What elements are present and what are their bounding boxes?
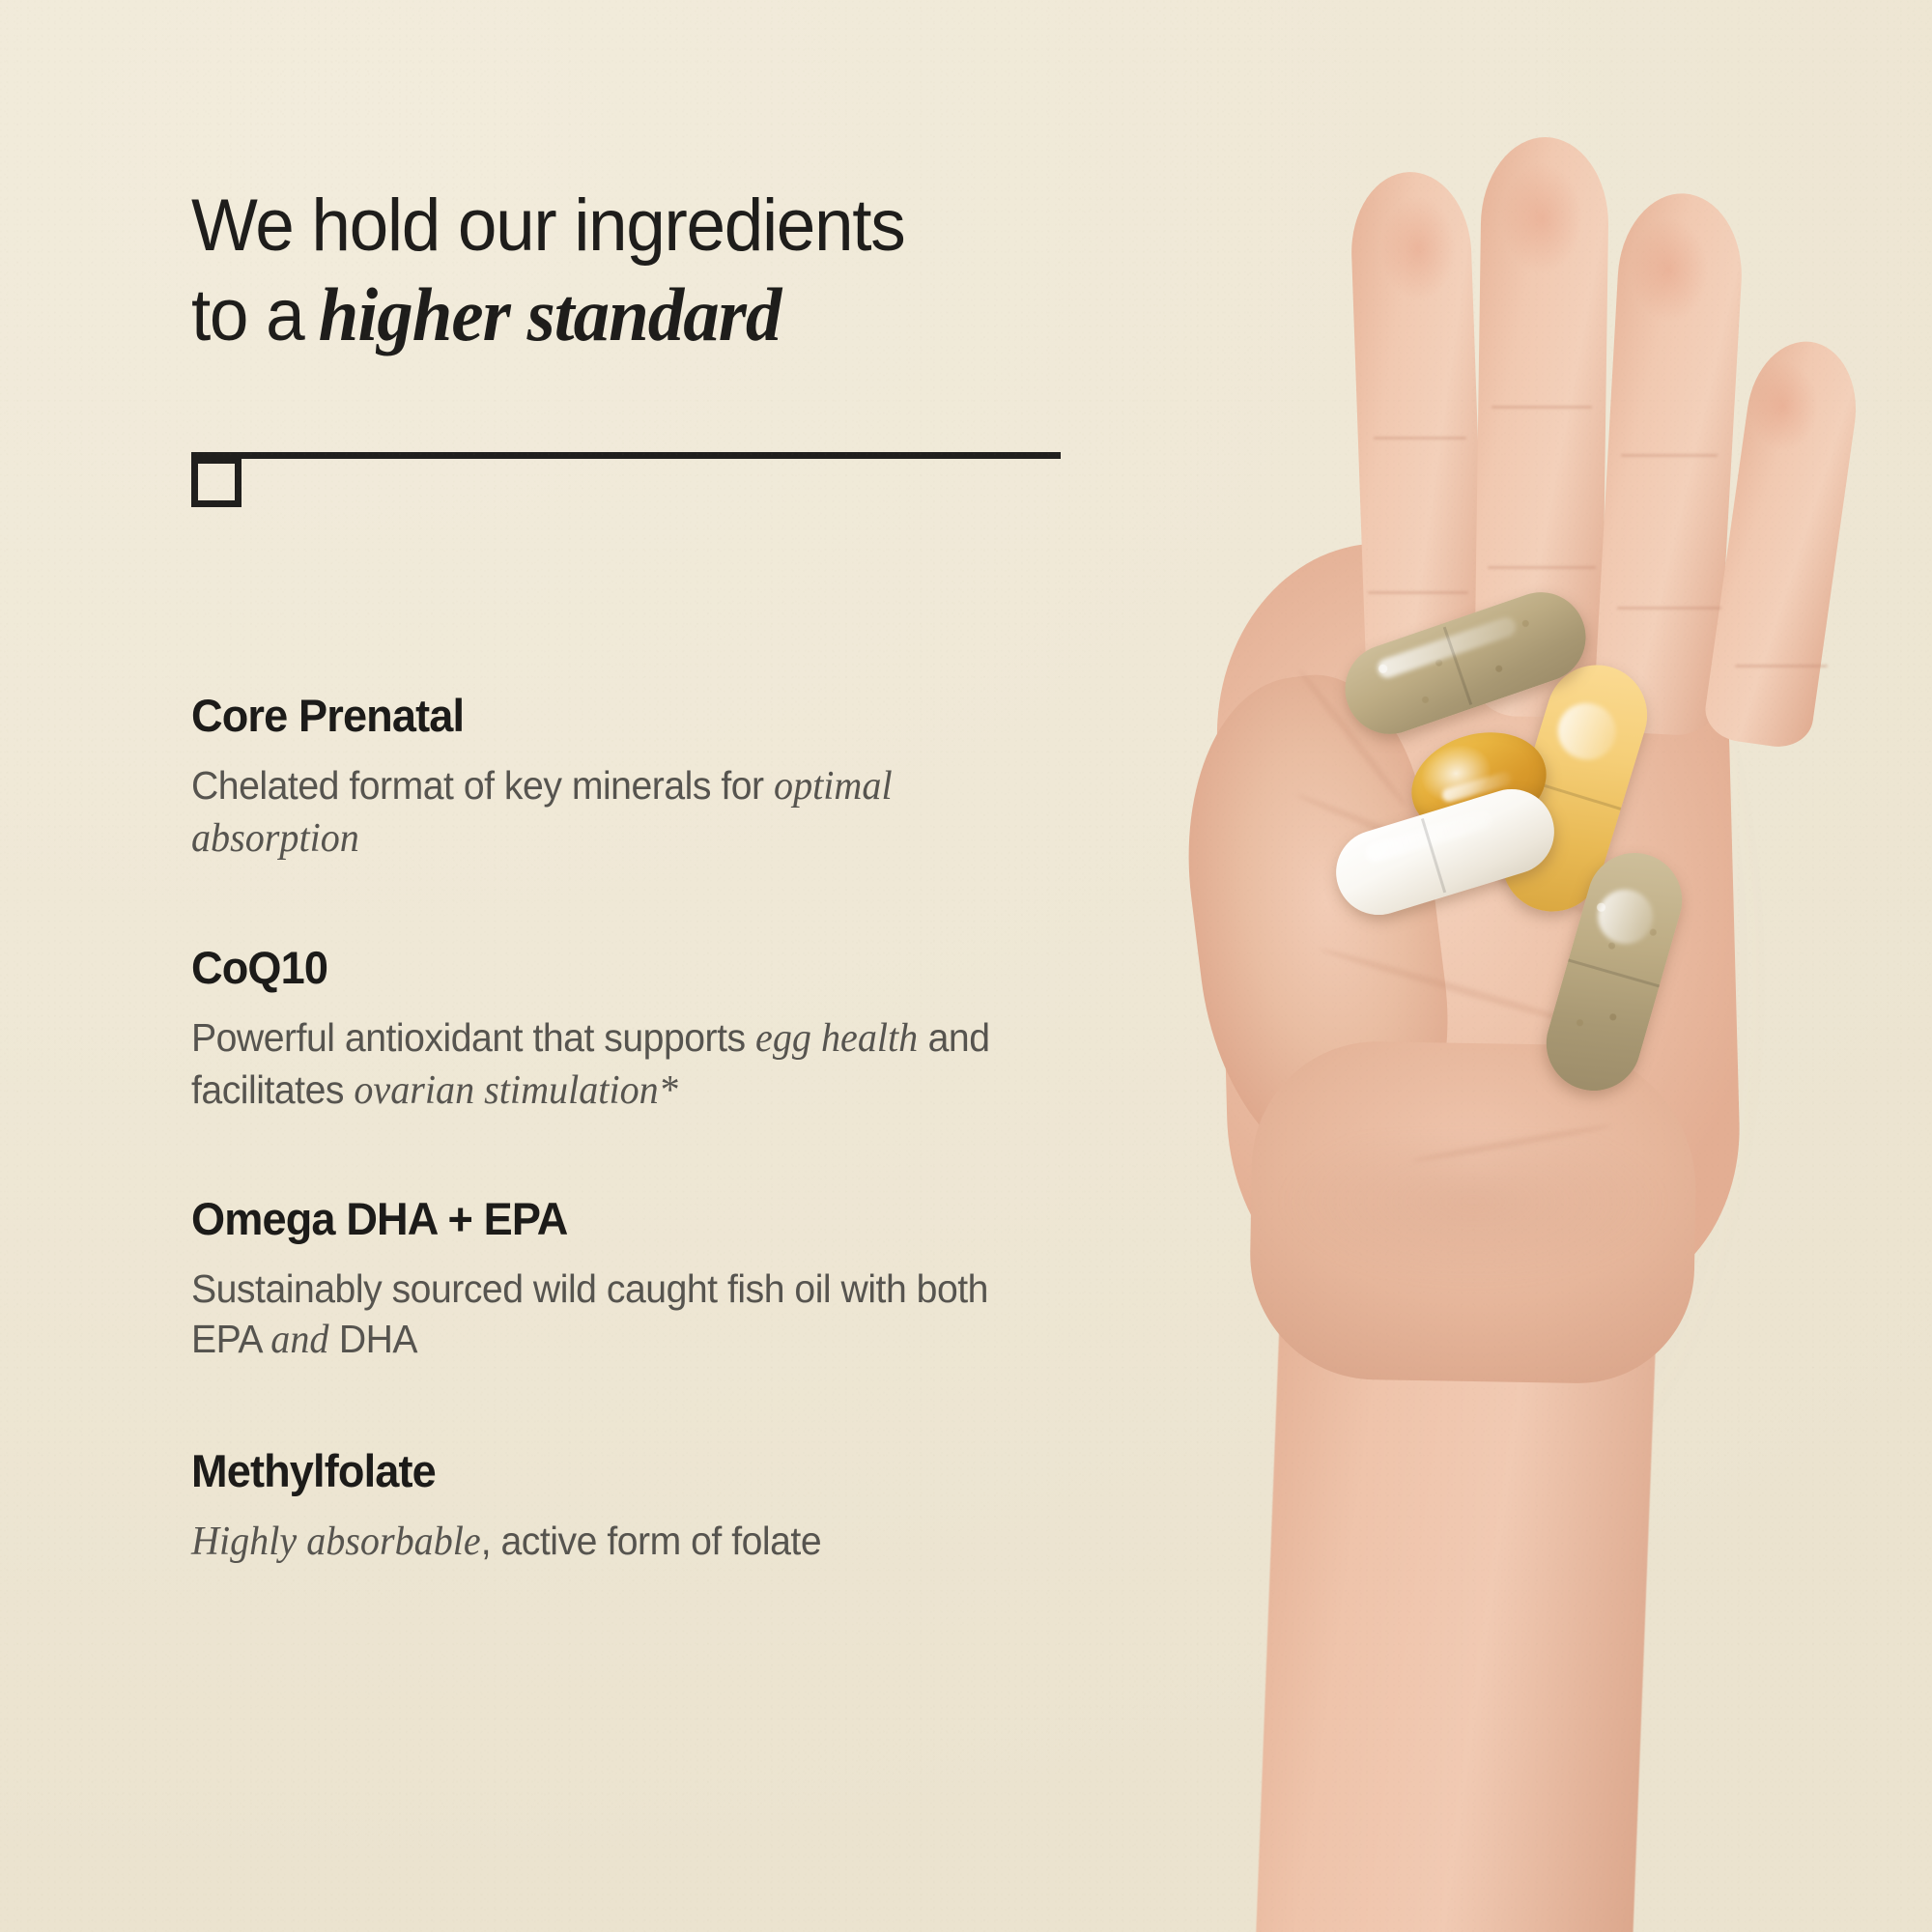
ingredient-title: Core Prenatal (191, 692, 1054, 741)
desc-text: , active form of folate (481, 1519, 821, 1563)
headline-line-2-plain: to a (191, 274, 303, 356)
desc-text: Chelated format of key minerals for (191, 763, 774, 808)
ingredient-description: Highly absorbable, active form of folate (191, 1516, 1049, 1568)
desc-emphasis: Highly absorbable (191, 1520, 481, 1564)
pill-cluster (1092, 0, 1932, 1932)
desc-emphasis: and (270, 1318, 328, 1362)
ingredient-title: Methylfolate (191, 1447, 1054, 1496)
ingredient-description: Powerful antioxidant that supports egg h… (191, 1012, 1049, 1118)
list-item: Methylfolate Highly absorbable, active f… (191, 1447, 1090, 1568)
square-accent (191, 457, 241, 507)
ingredient-title: CoQ10 (191, 944, 1054, 993)
page-title: We hold our ingredients to ahigher stand… (191, 182, 1054, 360)
horizontal-rule (191, 452, 1061, 459)
poster-canvas: We hold our ingredients to ahigher stand… (0, 0, 1932, 1932)
list-item: Core Prenatal Chelated format of key min… (191, 692, 1090, 865)
spacer (191, 865, 1090, 944)
spacer (191, 1118, 1090, 1195)
hand-photo (1092, 0, 1932, 1932)
spacer (191, 1366, 1090, 1447)
copy-column: We hold our ingredients to ahigher stand… (191, 0, 1090, 1932)
desc-emphasis: egg health (755, 1016, 918, 1061)
ingredient-description: Sustainably sourced wild caught fish oil… (191, 1264, 1049, 1366)
headline-line-1: We hold our ingredients (191, 185, 904, 267)
headline-emphasis: higher standard (303, 272, 781, 356)
list-item: Omega DHA + EPA Sustainably sourced wild… (191, 1195, 1090, 1366)
list-item: CoQ10 Powerful antioxidant that supports… (191, 944, 1090, 1117)
divider (191, 452, 1061, 520)
ingredient-list: Core Prenatal Chelated format of key min… (191, 692, 1090, 1568)
desc-emphasis: ovarian stimulation* (354, 1068, 677, 1113)
ingredient-description: Chelated format of key minerals for opti… (191, 760, 1049, 866)
ingredient-title: Omega DHA + EPA (191, 1195, 1054, 1244)
desc-text: DHA (328, 1317, 417, 1361)
desc-text: Powerful antioxidant that supports (191, 1015, 755, 1060)
